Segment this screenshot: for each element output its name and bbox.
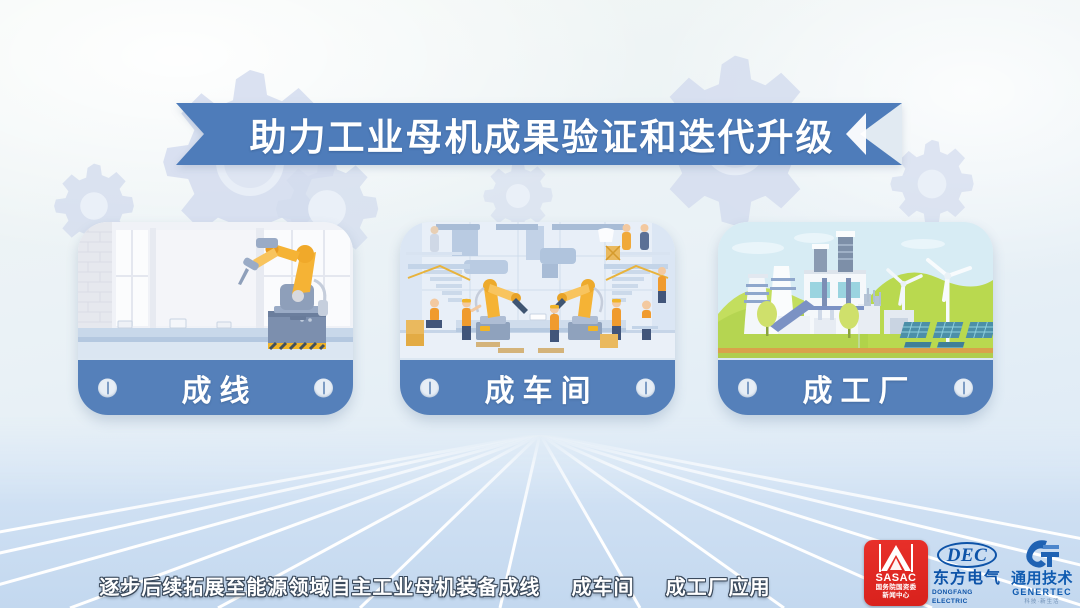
- dec-logo: DEC 东方电气 DONGFANG ELECTRIC: [932, 542, 1002, 606]
- card-workshop[interactable]: 成车间: [400, 222, 675, 415]
- card-production-line[interactable]: 成线: [78, 222, 353, 415]
- card-label-workshop: 成车间: [400, 358, 675, 415]
- sasac-triangle-icon: [876, 544, 916, 572]
- production-line-illustration: [78, 222, 353, 360]
- card-group: 成线: [0, 0, 1080, 608]
- caption-part2: 成车间: [572, 577, 635, 599]
- screw-icon-right: [636, 378, 655, 397]
- sasac-logo: SASAC 国务院国资委 新闻中心: [864, 540, 928, 606]
- worker-figure: [550, 305, 559, 343]
- genertec-en-text: GENERTEC: [1012, 587, 1072, 598]
- card-label-factory: 成工厂: [718, 358, 993, 415]
- workshop-illustration: [400, 222, 675, 360]
- card-label-text: 成工厂: [795, 366, 917, 410]
- dec-cn-text: 东方电气: [933, 570, 1001, 588]
- caption-part3: 成工厂应用: [666, 577, 771, 599]
- card-factory[interactable]: 成工厂: [718, 222, 993, 415]
- dec-abbr: DEC: [947, 546, 988, 565]
- sasac-en-text: SASAC: [875, 573, 916, 584]
- dec-en-text: DONGFANG ELECTRIC: [932, 588, 1002, 606]
- factory-illustration: [718, 222, 993, 360]
- card-label-production-line: 成线: [78, 358, 353, 415]
- sasac-cn-line2: 新闻中心: [882, 592, 909, 600]
- card-label-text: 成车间: [477, 366, 599, 410]
- dec-oval-mark: DEC: [937, 542, 997, 568]
- gt-monogram-icon: [1021, 539, 1063, 569]
- genertec-cn-text: 通用技术: [1011, 570, 1073, 587]
- card-label-text: 成线: [174, 366, 258, 410]
- slide-stage: 助力工业母机成果验证和迭代升级: [0, 0, 1080, 608]
- screw-icon-right: [314, 378, 333, 397]
- screw-icon-left: [420, 378, 439, 397]
- screw-icon-left: [738, 378, 757, 397]
- worker-figure: [612, 299, 621, 341]
- sasac-cn-line1: 国务院国资委: [876, 584, 917, 592]
- worker-figure: [658, 267, 666, 303]
- screw-icon-left: [98, 378, 117, 397]
- caption-main: 逐步后续拓展至能源领域自主工业母机装备成线: [99, 577, 540, 599]
- screw-icon-right: [954, 378, 973, 397]
- logo-bar: SASAC 国务院国资委 新闻中心 DEC 东方电气 DONGFANG ELEC…: [864, 538, 1078, 606]
- genertec-tagline: 科技·新生活: [1024, 598, 1059, 606]
- genertec-logo: 通用技术 GENERTEC 科技·新生活: [1006, 538, 1078, 606]
